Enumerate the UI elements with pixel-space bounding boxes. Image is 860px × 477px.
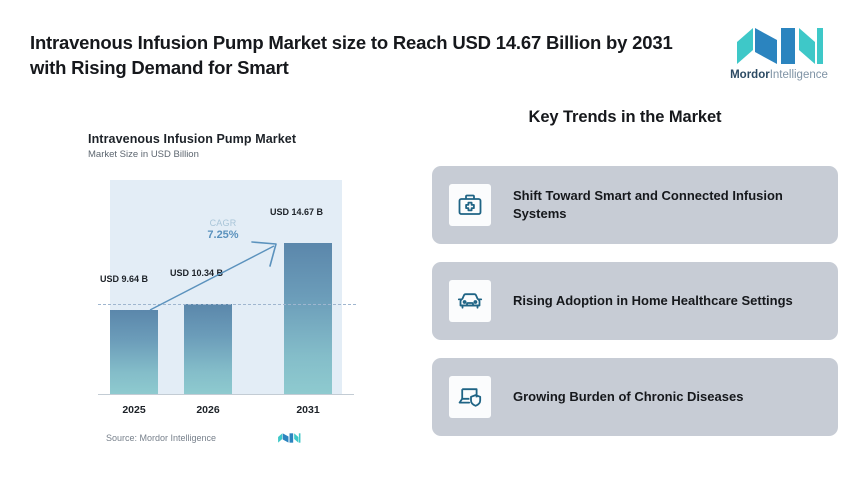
chart-subtitle: Market Size in USD Billion — [88, 149, 378, 160]
cagr-label: CAGR — [196, 218, 250, 228]
growth-arrow-icon — [146, 236, 296, 316]
x-tick-2026: 2026 — [184, 404, 232, 416]
chart-plot-area: USD 9.64 B USD 10.34 B USD 14.67 B CAGR … — [88, 180, 378, 402]
brand-wordmark: MordorIntelligence — [718, 69, 840, 82]
trend-card-chronic-diseases[interactable]: Growing Burden of Chronic Diseases — [432, 358, 838, 436]
trend-card-text: Shift Toward Smart and Connected Infusio… — [513, 187, 822, 224]
trend-card-home-healthcare[interactable]: Rising Adoption in Home Healthcare Setti… — [432, 262, 838, 340]
first-aid-kit-icon — [457, 192, 483, 218]
icon-tile — [449, 376, 491, 418]
mordor-mark-icon — [276, 430, 302, 446]
header: Intravenous Infusion Pump Market size to… — [0, 0, 860, 100]
trends-heading: Key Trends in the Market — [410, 108, 840, 127]
chart-title: Intravenous Infusion Pump Market — [88, 132, 378, 146]
mordor-logo-icon — [729, 26, 829, 66]
chart-panel: Intravenous Infusion Pump Market Market … — [88, 132, 378, 452]
icon-tile — [449, 280, 491, 322]
chart-source: Source: Mordor Intelligence — [106, 433, 216, 443]
x-tick-2025: 2025 — [110, 404, 158, 416]
trends-section: Key Trends in the Market — [410, 108, 840, 127]
bar-2026 — [184, 304, 232, 394]
trend-card-text: Rising Adoption in Home Healthcare Setti… — [513, 292, 793, 310]
trends-card-list: Shift Toward Smart and Connected Infusio… — [432, 166, 838, 454]
bar-2025 — [110, 310, 158, 394]
bar-value-label-2031: USD 14.67 B — [270, 207, 323, 217]
brand-name-light: Intelligence — [770, 69, 828, 81]
trend-card-text: Growing Burden of Chronic Diseases — [513, 388, 743, 406]
brand-name-bold: Mordor — [730, 69, 770, 81]
page-title: Intravenous Infusion Pump Market size to… — [30, 30, 695, 80]
x-tick-2031: 2031 — [284, 404, 332, 416]
x-axis-line — [98, 394, 354, 395]
car-front-icon — [457, 288, 483, 314]
laptop-shield-icon — [457, 384, 483, 410]
infographic-page: Intravenous Infusion Pump Market size to… — [0, 0, 860, 477]
chart-footer: Source: Mordor Intelligence — [88, 430, 378, 452]
bar-value-label-2025: USD 9.64 B — [100, 274, 148, 284]
x-axis-labels: 2025 2026 2031 — [88, 404, 378, 422]
icon-tile — [449, 184, 491, 226]
brand-logo: MordorIntelligence — [718, 26, 840, 82]
trend-card-smart-infusion[interactable]: Shift Toward Smart and Connected Infusio… — [432, 166, 838, 244]
